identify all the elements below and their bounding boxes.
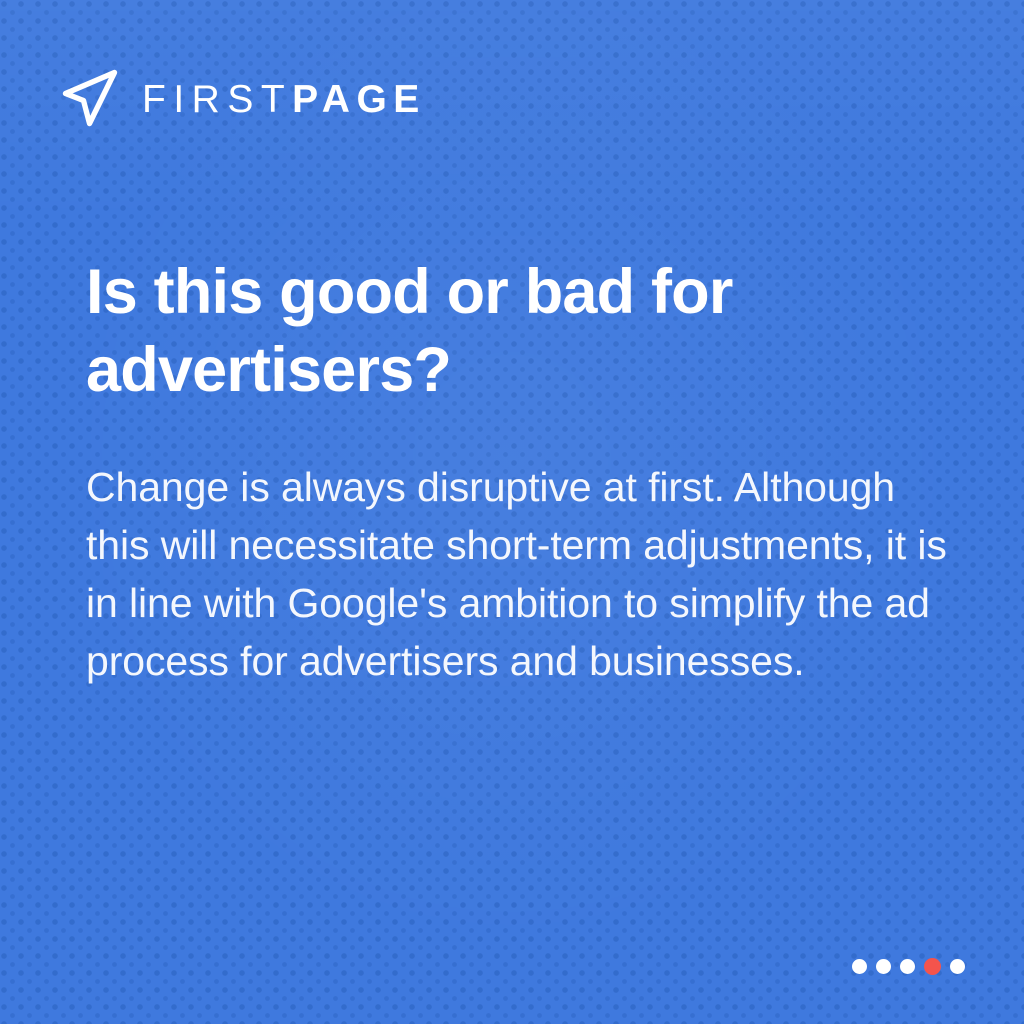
body-paragraph: Change is always disruptive at first. Al… — [86, 458, 956, 690]
brand-logo-first: FIRST — [142, 80, 292, 119]
brand-logo-page: PAGE — [292, 80, 426, 119]
brand-logo-wordmark: FIRSTPAGE — [142, 80, 426, 119]
pagination-dot-4-active[interactable] — [924, 958, 941, 975]
paper-plane-icon — [56, 65, 122, 131]
pagination-dot-3[interactable] — [900, 959, 915, 974]
pagination-dot-5[interactable] — [950, 959, 965, 974]
page-title: Is this good or bad for advertisers? — [86, 253, 836, 409]
pagination-dot-1[interactable] — [852, 959, 867, 974]
carousel-slide: FIRSTPAGE Is this good or bad for advert… — [0, 0, 1024, 1024]
carousel-pagination[interactable] — [852, 958, 965, 975]
brand-logo[interactable]: FIRSTPAGE — [56, 58, 426, 138]
slide-content: FIRSTPAGE Is this good or bad for advert… — [0, 0, 1024, 1024]
pagination-dot-2[interactable] — [876, 959, 891, 974]
